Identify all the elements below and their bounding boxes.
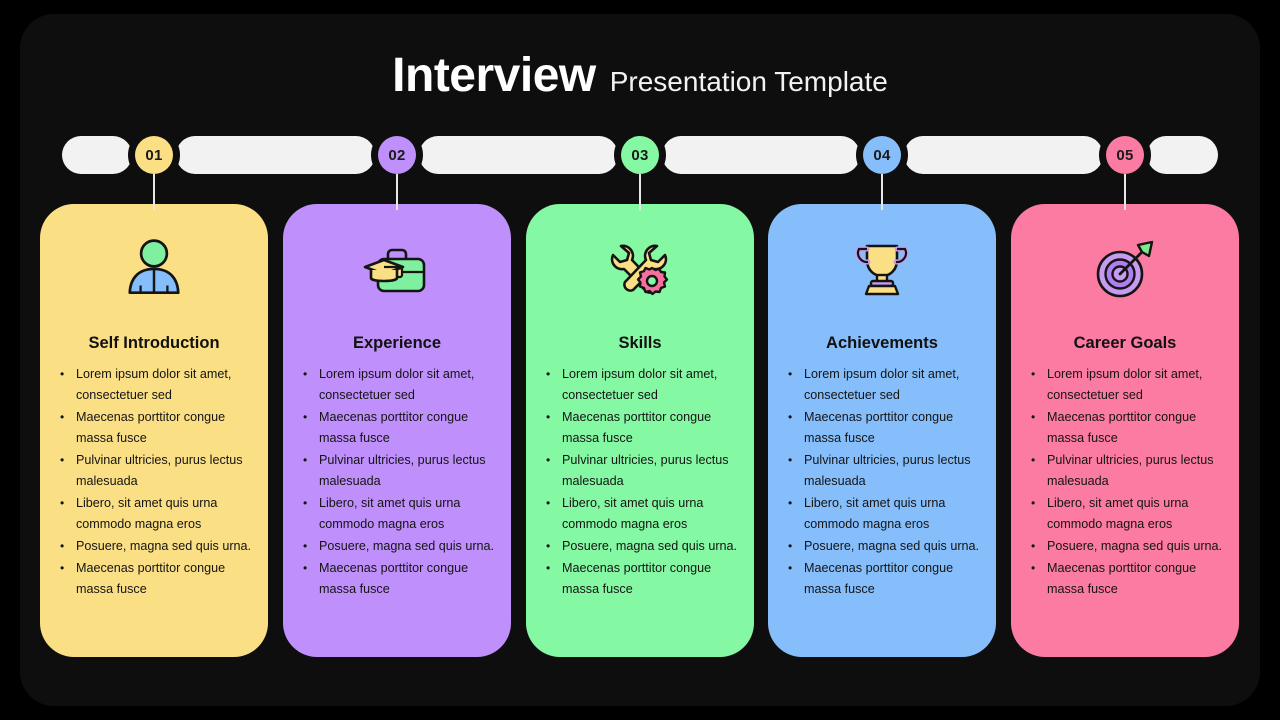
timeline-badge-04[interactable]: 04 [863,136,901,174]
bullet-list-career-goals: Lorem ipsum dolor sit amet, consectetuer… [1029,364,1227,601]
list-item: Maecenas porttitor congue massa fusce [1029,558,1227,600]
title-subtitle: Presentation Template [610,66,888,97]
list-item: Posuere, magna sed quis urna. [301,536,499,557]
bullet-list-experience: Lorem ipsum dolor sit amet, consectetuer… [301,364,499,601]
list-item: Posuere, magna sed quis urna. [58,536,256,557]
timeline-connector-05 [1124,174,1126,210]
list-item: Libero, sit amet quis urna commodo magna… [544,493,742,535]
list-item: Maecenas porttitor congue massa fusce [58,407,256,449]
list-item: Lorem ipsum dolor sit amet, consectetuer… [786,364,984,406]
timeline-connector-02 [396,174,398,210]
list-item: Lorem ipsum dolor sit amet, consectetuer… [301,364,499,406]
timeline-segment-2 [419,136,618,174]
list-item: Posuere, magna sed quis urna. [786,536,984,557]
card-title-experience: Experience [283,334,511,353]
target-arrow-icon [1011,232,1239,308]
list-item: Libero, sit amet quis urna commodo magna… [786,493,984,535]
card-title-career-goals: Career Goals [1011,334,1239,353]
list-item: Lorem ipsum dolor sit amet, consectetuer… [544,364,742,406]
slide-canvas: InterviewPresentation Template 010203040… [0,0,1280,720]
card-career-goals[interactable]: Career GoalsLorem ipsum dolor sit amet, … [1011,204,1239,657]
timeline-segment-1 [176,136,375,174]
timeline-badge-02[interactable]: 02 [378,136,416,174]
timeline-segment-4 [904,136,1103,174]
bullet-list-skills: Lorem ipsum dolor sit amet, consectetuer… [544,364,742,601]
timeline-segment-3 [662,136,860,174]
wrench-gear-icon [526,232,754,308]
timeline-bar: 0102030405 [62,136,1218,174]
list-item: Pulvinar ultricies, purus lectus malesua… [786,450,984,492]
list-item: Libero, sit amet quis urna commodo magna… [301,493,499,535]
card-title-achievements: Achievements [768,334,996,353]
list-item: Maecenas porttitor congue massa fusce [786,407,984,449]
timeline-badge-05[interactable]: 05 [1106,136,1144,174]
timeline-connector-03 [639,174,641,210]
list-item: Maecenas porttitor congue massa fusce [786,558,984,600]
card-title-self-introduction: Self Introduction [40,334,268,353]
list-item: Maecenas porttitor congue massa fusce [544,407,742,449]
card-skills[interactable]: SkillsLorem ipsum dolor sit amet, consec… [526,204,754,657]
card-experience[interactable]: ExperienceLorem ipsum dolor sit amet, co… [283,204,511,657]
list-item: Pulvinar ultricies, purus lectus malesua… [1029,450,1227,492]
list-item: Pulvinar ultricies, purus lectus malesua… [301,450,499,492]
card-achievements[interactable]: AchievementsLorem ipsum dolor sit amet, … [768,204,996,657]
list-item: Posuere, magna sed quis urna. [1029,536,1227,557]
list-item: Pulvinar ultricies, purus lectus malesua… [544,450,742,492]
timeline-connector-04 [881,174,883,210]
timeline-badge-03[interactable]: 03 [621,136,659,174]
timeline-segment-0 [62,136,132,174]
list-item: Pulvinar ultricies, purus lectus malesua… [58,450,256,492]
list-item: Libero, sit amet quis urna commodo magna… [58,493,256,535]
timeline-badge-01[interactable]: 01 [135,136,173,174]
graduation-cap-briefcase-icon [283,232,511,308]
list-item: Posuere, magna sed quis urna. [544,536,742,557]
bullet-list-self-introduction: Lorem ipsum dolor sit amet, consectetuer… [58,364,256,601]
person-icon [40,232,268,308]
list-item: Maecenas porttitor congue massa fusce [301,558,499,600]
card-self-introduction[interactable]: Self IntroductionLorem ipsum dolor sit a… [40,204,268,657]
list-item: Maecenas porttitor congue massa fusce [1029,407,1227,449]
card-title-skills: Skills [526,334,754,353]
list-item: Libero, sit amet quis urna commodo magna… [1029,493,1227,535]
trophy-icon [768,232,996,308]
bullet-list-achievements: Lorem ipsum dolor sit amet, consectetuer… [786,364,984,601]
list-item: Maecenas porttitor congue massa fusce [301,407,499,449]
list-item: Maecenas porttitor congue massa fusce [544,558,742,600]
page-title: InterviewPresentation Template [0,48,1280,103]
list-item: Maecenas porttitor congue massa fusce [58,558,256,600]
list-item: Lorem ipsum dolor sit amet, consectetuer… [1029,364,1227,406]
title-main: Interview [392,49,596,102]
timeline-connector-01 [153,174,155,210]
list-item: Lorem ipsum dolor sit amet, consectetuer… [58,364,256,406]
timeline-segment-5 [1147,136,1218,174]
